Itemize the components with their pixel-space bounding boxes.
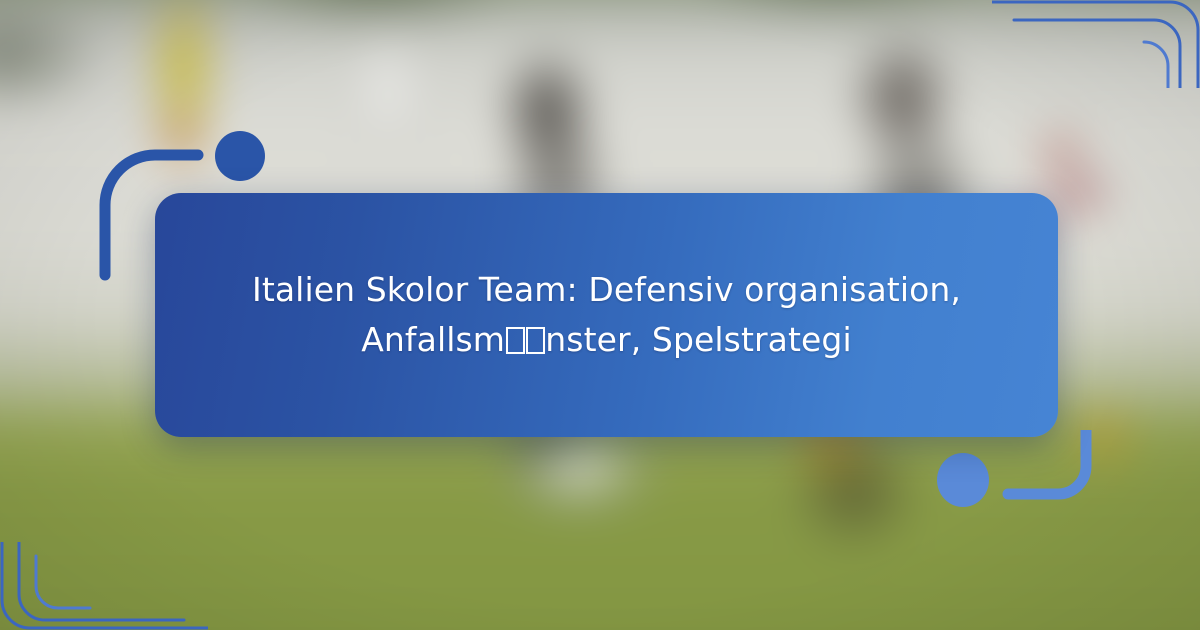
missing-glyph-box-2 — [526, 327, 545, 353]
title-line-2-prefix: Anfallsm — [361, 320, 505, 359]
bottom-right-arc-icon — [1000, 430, 1100, 514]
missing-glyph-box-1 — [506, 327, 525, 353]
page-title: Italien Skolor Team: Defensiv organisati… — [227, 265, 987, 365]
title-line-2-suffix: nster, Spelstrategi — [545, 320, 851, 359]
social-share-card: Italien Skolor Team: Defensiv organisati… — [0, 0, 1200, 630]
top-left-dot-icon — [215, 131, 265, 181]
title-card: Italien Skolor Team: Defensiv organisati… — [155, 193, 1058, 437]
bottom-right-dot-icon — [937, 453, 989, 507]
title-line-1: Italien Skolor Team: Defensiv organisati… — [252, 270, 961, 309]
